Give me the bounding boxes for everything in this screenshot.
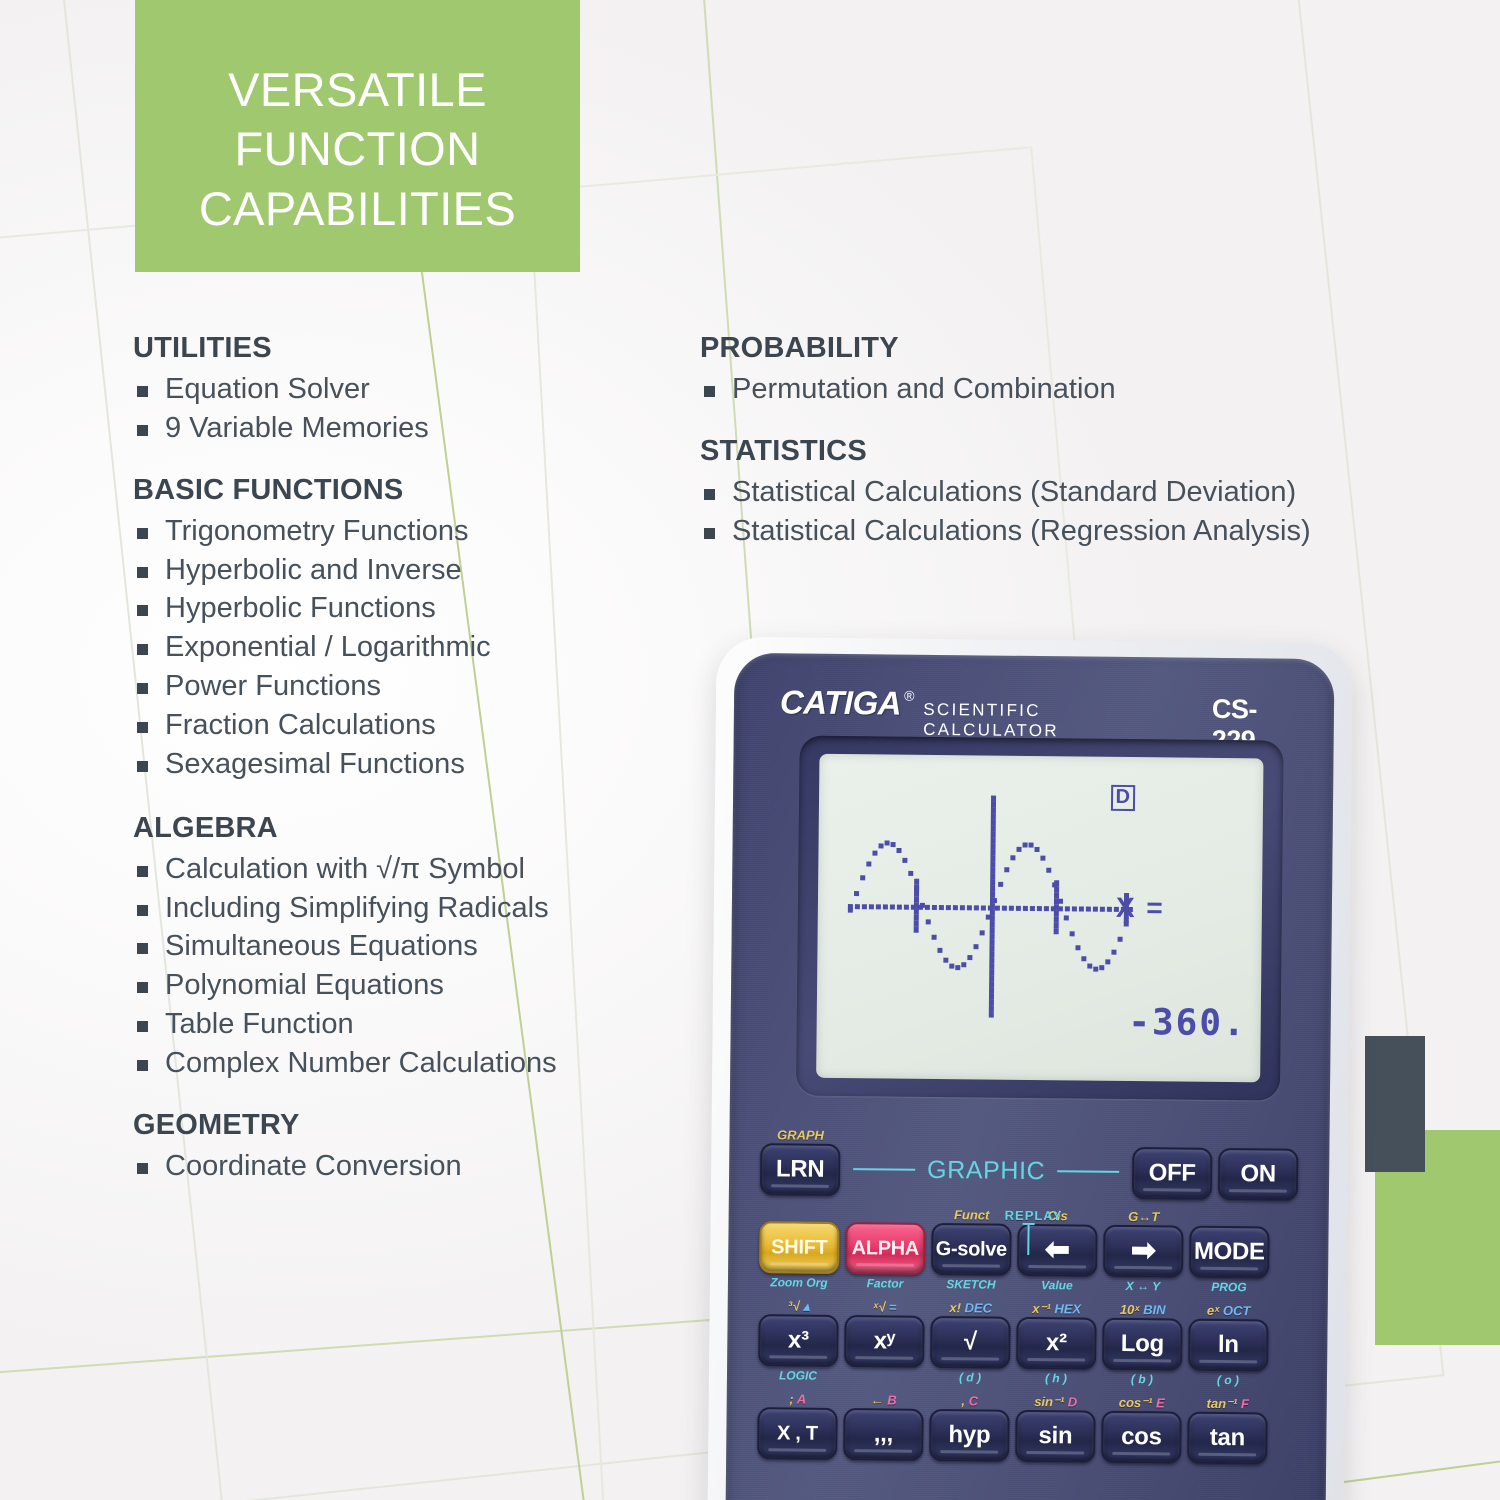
- key-cell-log: 10ˣ BINLog( b ): [1099, 1301, 1186, 1388]
- key-sin[interactable]: sin: [1015, 1410, 1096, 1463]
- key-top-label: ˣ√ =: [873, 1298, 897, 1315]
- lcd-value: -360.: [1128, 1002, 1247, 1044]
- list-item: Table Function: [133, 1005, 693, 1044]
- key-cell-ln: eˣ OCTln( o ): [1185, 1302, 1272, 1389]
- list-item: Complex Number Calculations: [133, 1044, 693, 1083]
- key-top-label: tan⁻¹ F: [1206, 1395, 1248, 1412]
- key-cell-k1: ← B,,,: [840, 1391, 927, 1478]
- square-bullet-icon: [137, 528, 148, 539]
- key-bottom-label: [795, 1461, 799, 1477]
- square-bullet-icon: [137, 722, 148, 733]
- key-k4[interactable]: ➡: [1103, 1225, 1184, 1278]
- feature-list: Calculation with √/π SymbolIncluding Sim…: [133, 850, 693, 1083]
- list-item: Equation Solver: [133, 370, 693, 409]
- key-top-label: G↔T: [1128, 1208, 1159, 1225]
- key-ln[interactable]: ln: [1188, 1319, 1269, 1372]
- square-bullet-icon: [704, 489, 715, 500]
- feature-group-geometry: GEOMETRYCoordinate Conversion: [133, 1109, 693, 1186]
- list-item-label: Including Simplifying Radicals: [165, 892, 549, 924]
- key-g-solve[interactable]: G-solve: [931, 1223, 1012, 1276]
- square-bullet-icon: [137, 683, 148, 694]
- key-x-t[interactable]: X , T: [757, 1407, 838, 1460]
- key-cell-alpha: ALPHAFactor: [842, 1205, 929, 1292]
- list-item-label: Equation Solver: [165, 373, 370, 405]
- list-item: Power Functions: [133, 667, 693, 706]
- square-bullet-icon: [137, 605, 148, 616]
- key-cell-shift: SHIFTZoom Org: [756, 1204, 843, 1291]
- key-top-label: x⁻¹ HEX: [1032, 1300, 1081, 1318]
- graphic-band-line-right: [1057, 1170, 1119, 1173]
- list-item-label: Power Functions: [165, 670, 381, 702]
- graphic-band: GRAPHIC: [843, 1155, 1129, 1187]
- accent-block-slate: [1365, 1036, 1425, 1172]
- key-x[interactable]: x³: [758, 1314, 839, 1367]
- list-item-label: Hyperbolic and Inverse: [165, 554, 462, 586]
- key-top-label: [798, 1205, 802, 1222]
- calculator-product-image: CATIGA ® SCIENTIFIC CALCULATOR CS-229 D …: [707, 637, 1356, 1500]
- key-k1[interactable]: ,,,: [843, 1408, 924, 1461]
- square-bullet-icon: [137, 386, 148, 397]
- key-top-spacer-off: [1171, 1130, 1175, 1147]
- key-top-label: [1228, 1209, 1232, 1226]
- lcd-screen: D X = -360.: [816, 754, 1263, 1083]
- list-item-label: Hyperbolic Functions: [165, 592, 436, 624]
- key-mode[interactable]: MODE: [1189, 1226, 1270, 1279]
- feature-list: Coordinate Conversion: [133, 1147, 693, 1186]
- feature-group-basic-functions: BASIC FUNCTIONSTrigonometry FunctionsHyp…: [133, 474, 693, 784]
- list-item-label: Trigonometry Functions: [165, 515, 469, 547]
- square-bullet-icon: [137, 1163, 148, 1174]
- list-item-label: Statistical Calculations (Regression Ana…: [732, 515, 1311, 547]
- list-item: 9 Variable Memories: [133, 409, 693, 448]
- key-cell-x: x⁻¹ HEXx²( h ): [1013, 1300, 1100, 1387]
- feature-column-right: PROBABILITYPermutation and CombinationST…: [700, 332, 1470, 551]
- group-heading: PROBABILITY: [700, 332, 1470, 365]
- group-heading: ALGEBRA: [133, 812, 693, 845]
- key-x[interactable]: xʸ: [844, 1315, 925, 1368]
- square-bullet-icon: [137, 1021, 148, 1032]
- lcd-mode-indicator: D: [1110, 785, 1135, 811]
- title-block: VERSATILE FUNCTION CAPABILITIES: [135, 0, 580, 272]
- registered-trademark-icon: ®: [904, 688, 914, 704]
- key-bottom-label: Factor: [867, 1275, 904, 1291]
- list-item: Hyperbolic Functions: [133, 589, 693, 628]
- key-cell-on: ON: [1215, 1130, 1302, 1200]
- key-cell-mode: MODEPROG: [1186, 1209, 1273, 1296]
- list-item: Sexagesimal Functions: [133, 745, 693, 784]
- group-heading: BASIC FUNCTIONS: [133, 474, 693, 507]
- key-top-label: ³√ ▴: [788, 1297, 810, 1314]
- square-bullet-icon: [137, 905, 148, 916]
- list-item-label: Calculation with √/π Symbol: [165, 853, 525, 885]
- key-top-label: x! DEC: [949, 1299, 992, 1316]
- key-cell-hyp: , Chyp: [926, 1392, 1013, 1479]
- key-tan[interactable]: tan: [1187, 1412, 1268, 1465]
- feature-list: Permutation and Combination: [700, 370, 1470, 409]
- group-heading: UTILITIES: [133, 332, 693, 365]
- key-cell-cos: cos⁻¹ Ecos: [1098, 1394, 1185, 1481]
- feature-list: Equation Solver9 Variable Memories: [133, 370, 693, 448]
- key-bottom-label: ( d ): [959, 1369, 981, 1385]
- key-bottom-label: X ↔ Y: [1126, 1278, 1161, 1294]
- keypad-function-rows: SHIFTZoom Org ALPHAFactorFunctG-solveSKE…: [726, 1204, 1329, 1482]
- square-bullet-icon: [137, 761, 148, 772]
- key-on[interactable]: ON: [1218, 1147, 1299, 1200]
- square-bullet-icon: [137, 1060, 148, 1071]
- square-bullet-icon: [137, 644, 148, 655]
- list-item-label: Simultaneous Equations: [165, 930, 478, 962]
- page-root: VERSATILE FUNCTION CAPABILITIES UTILITIE…: [0, 0, 1500, 1500]
- key-hyp[interactable]: hyp: [929, 1409, 1010, 1462]
- key-bottom-label: [881, 1461, 885, 1477]
- replay-band-label: REPLAY: [1005, 1207, 1063, 1225]
- key-cell-k2: x! DEC√( d ): [927, 1299, 1014, 1386]
- keypad-row-graphic: GRAPH LRN GRAPHIC OFF ON: [729, 1123, 1330, 1203]
- replay-tick-icon: [1027, 1225, 1029, 1255]
- list-item-label: Table Function: [165, 1008, 354, 1040]
- list-item-label: Statistical Calculations (Standard Devia…: [732, 476, 1296, 508]
- key-cell-tan: tan⁻¹ Ftan: [1184, 1395, 1271, 1482]
- key-cell-g-solve: FunctG-solveSKETCH: [928, 1206, 1015, 1293]
- list-item: Permutation and Combination: [700, 370, 1470, 409]
- list-item-label: Fraction Calculations: [165, 709, 436, 741]
- key-cell-lrn: GRAPH LRN: [757, 1126, 844, 1196]
- key-cell-x: ³√ ▴x³LOGIC: [755, 1297, 842, 1384]
- key-bottom-label: [1053, 1463, 1057, 1479]
- list-item: Simultaneous Equations: [133, 927, 693, 966]
- key-top-label: ← B: [871, 1391, 897, 1408]
- list-item-label: Complex Number Calculations: [165, 1047, 557, 1079]
- list-item-label: Coordinate Conversion: [165, 1150, 462, 1182]
- lcd-x-label: X =: [1116, 892, 1165, 925]
- key-bottom-label: [882, 1368, 886, 1384]
- feature-group-statistics: STATISTICSStatistical Calculations (Stan…: [700, 435, 1470, 551]
- square-bullet-icon: [137, 866, 148, 877]
- feature-group-utilities: UTILITIESEquation Solver9 Variable Memor…: [133, 332, 693, 448]
- list-item: Statistical Calculations (Regression Ana…: [700, 512, 1470, 551]
- key-k2[interactable]: √: [930, 1316, 1011, 1369]
- feature-group-algebra: ALGEBRACalculation with √/π SymbolInclud…: [133, 812, 693, 1083]
- keypad-row-2: ³√ ▴x³LOGICˣ√ =xʸ x! DEC√( d )x⁻¹ HEXx²(…: [727, 1297, 1328, 1389]
- key-top-label-graph: GRAPH: [777, 1126, 824, 1143]
- feature-list: Statistical Calculations (Standard Devia…: [700, 473, 1470, 551]
- page-title: VERSATILE FUNCTION CAPABILITIES: [199, 60, 516, 238]
- brand-name: CATIGA: [780, 683, 901, 722]
- key-bottom-label: Value: [1041, 1277, 1073, 1293]
- key-bottom-label: [967, 1462, 971, 1478]
- keypad-row-1: SHIFTZoom Org ALPHAFactorFunctG-solveSKE…: [728, 1204, 1329, 1296]
- graphic-band-line-left: [853, 1168, 915, 1171]
- key-top-spacer-on: [1257, 1131, 1261, 1148]
- key-log[interactable]: Log: [1102, 1318, 1183, 1371]
- square-bullet-icon: [137, 943, 148, 954]
- key-cell-k4: G↔T➡X ↔ Y: [1100, 1208, 1187, 1295]
- list-item: Trigonometry Functions: [133, 512, 693, 551]
- list-item: Hyperbolic and Inverse: [133, 551, 693, 590]
- key-bottom-label: LOGIC: [779, 1367, 817, 1383]
- key-cell-sin: sin⁻¹ Dsin: [1012, 1393, 1099, 1480]
- key-off[interactable]: OFF: [1132, 1147, 1213, 1200]
- key-bottom-label: PROG: [1211, 1279, 1247, 1295]
- group-heading: STATISTICS: [700, 435, 1470, 468]
- list-item: Fraction Calculations: [133, 706, 693, 745]
- graphic-band-label: GRAPHIC: [927, 1155, 1045, 1185]
- key-top-label: ; A: [789, 1390, 806, 1407]
- key-x[interactable]: x²: [1016, 1317, 1097, 1370]
- key-cell-off: OFF: [1129, 1130, 1216, 1200]
- square-bullet-icon: [704, 386, 715, 397]
- key-bottom-label: ( o ): [1217, 1372, 1239, 1388]
- key-bottom-label: [1139, 1464, 1143, 1480]
- key-bottom-label: Zoom Org: [770, 1274, 827, 1291]
- list-item: Statistical Calculations (Standard Devia…: [700, 473, 1470, 512]
- key-top-label: sin⁻¹ D: [1034, 1393, 1077, 1410]
- list-item-label: Permutation and Combination: [732, 373, 1116, 405]
- key-bottom-label: [1225, 1465, 1229, 1481]
- key-top-label: Funct: [954, 1206, 990, 1223]
- feature-list: Trigonometry FunctionsHyperbolic and Inv…: [133, 512, 693, 784]
- list-item: Exponential / Logarithmic: [133, 628, 693, 667]
- key-top-label: 10ˣ BIN: [1120, 1301, 1166, 1318]
- key-shift[interactable]: SHIFT: [759, 1221, 840, 1274]
- key-top-label: eˣ OCT: [1207, 1302, 1251, 1319]
- key-bottom-label: ( b ): [1131, 1371, 1153, 1387]
- key-bottom-label: ( h ): [1045, 1370, 1067, 1386]
- square-bullet-icon: [137, 567, 148, 578]
- feature-column-left: UTILITIESEquation Solver9 Variable Memor…: [133, 332, 693, 1186]
- list-item-label: Exponential / Logarithmic: [165, 631, 491, 663]
- list-item-label: Polynomial Equations: [165, 969, 444, 1001]
- key-cos[interactable]: cos: [1101, 1411, 1182, 1464]
- key-cell-x-t: ; AX , T: [754, 1390, 841, 1477]
- lcd-bezel: D X = -360.: [796, 736, 1284, 1101]
- group-heading: GEOMETRY: [133, 1109, 693, 1142]
- key-cell-x: ˣ√ =xʸ: [841, 1298, 928, 1385]
- key-lrn[interactable]: LRN: [760, 1143, 841, 1196]
- list-item: Coordinate Conversion: [133, 1147, 693, 1186]
- feature-group-probability: PROBABILITYPermutation and Combination: [700, 332, 1470, 409]
- list-item: Calculation with √/π Symbol: [133, 850, 693, 889]
- square-bullet-icon: [137, 425, 148, 436]
- list-item: Polynomial Equations: [133, 966, 693, 1005]
- square-bullet-icon: [704, 528, 715, 539]
- key-bottom-label: SKETCH: [946, 1276, 996, 1293]
- calculator-body: CATIGA ® SCIENTIFIC CALCULATOR CS-229 D …: [725, 653, 1334, 1500]
- square-bullet-icon: [137, 982, 148, 993]
- list-item-label: Sexagesimal Functions: [165, 748, 465, 780]
- brand-subtitle: SCIENTIFIC CALCULATOR: [923, 700, 1182, 743]
- list-item: Including Simplifying Radicals: [133, 889, 693, 928]
- key-top-label: [884, 1205, 888, 1222]
- keypad-row-3: ; AX , T ← B,,, , Chyp sin⁻¹ Dsin cos⁻¹ …: [726, 1390, 1327, 1482]
- calculator-keypad: GRAPH LRN GRAPHIC OFF ON: [726, 1123, 1330, 1489]
- key-top-label: cos⁻¹ E: [1119, 1394, 1165, 1411]
- list-item-label: 9 Variable Memories: [165, 412, 429, 444]
- key-top-label: , C: [961, 1392, 978, 1409]
- key-alpha[interactable]: ALPHA: [845, 1222, 926, 1275]
